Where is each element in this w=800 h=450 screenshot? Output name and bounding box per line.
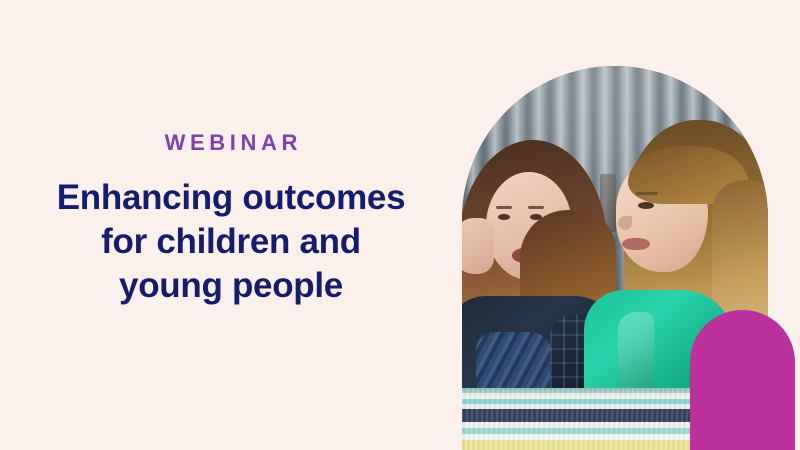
- eyebrow-right: [528, 206, 544, 209]
- hand: [462, 218, 494, 274]
- nose: [618, 216, 632, 230]
- eyebrow-label: WEBINAR: [160, 132, 302, 154]
- eye-left: [498, 214, 510, 220]
- eyebrow-left: [496, 206, 512, 209]
- headline-line-1: Enhancing outcomes: [57, 176, 406, 220]
- headline-line-2: for children and: [57, 220, 406, 264]
- text-column: WEBINAR Enhancing outcomes for children …: [0, 0, 462, 450]
- eyebrow: [636, 192, 658, 195]
- page-title: Enhancing outcomes for children and youn…: [57, 176, 406, 308]
- webinar-promo-banner: WEBINAR Enhancing outcomes for children …: [0, 0, 800, 450]
- magenta-arch-accent: [690, 310, 795, 450]
- eye: [638, 202, 654, 209]
- mouth: [622, 238, 650, 250]
- headline-line-3: young people: [57, 264, 406, 308]
